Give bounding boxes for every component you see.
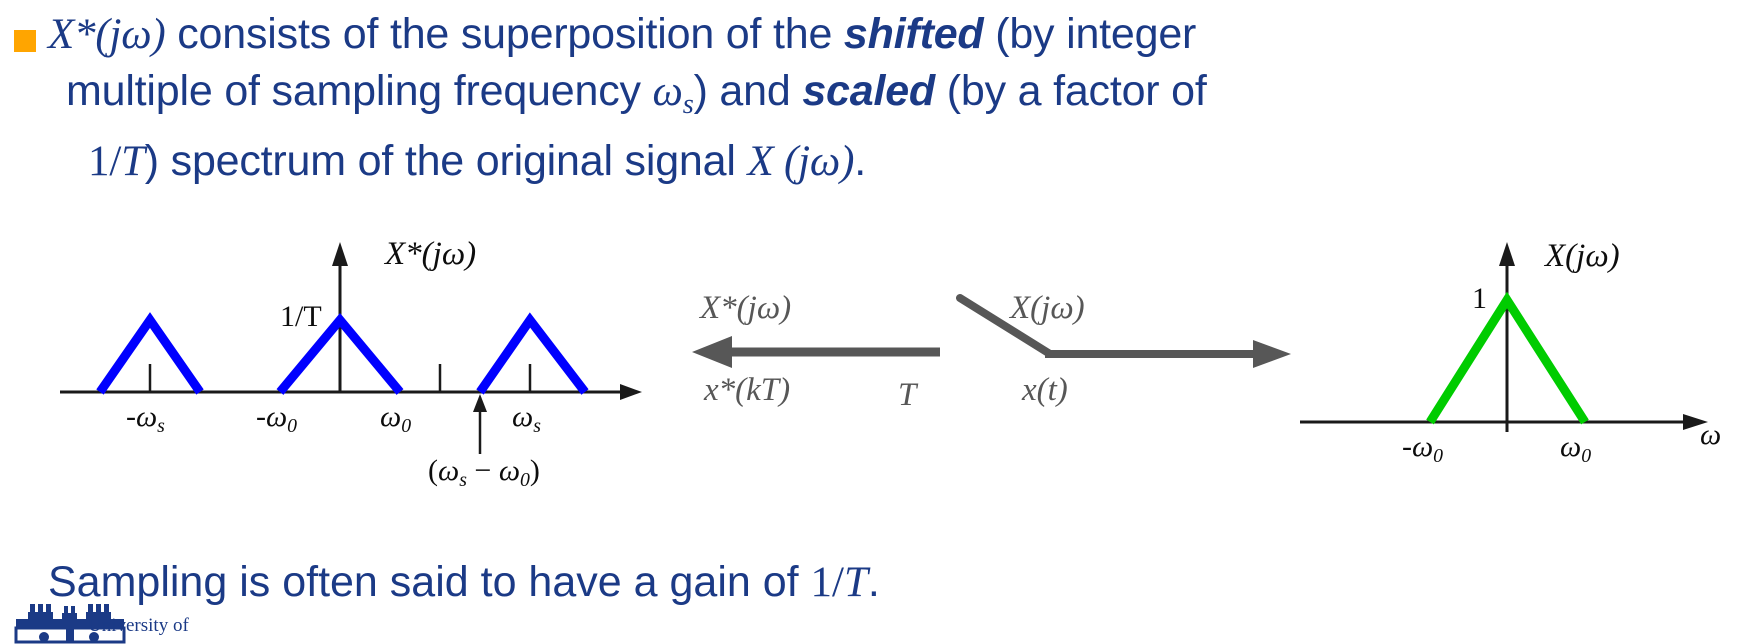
emphasis-scaled: scaled — [802, 67, 935, 115]
left-plot-y-axis-label: X*(jω) — [385, 236, 476, 273]
paragraph-line-1: X*(jω) consists of the superposition of … — [48, 6, 1748, 63]
sampler-right-arrow-head — [1253, 340, 1291, 368]
summary-math-T: T — [844, 559, 868, 606]
line1-text-1: consists of the superposition of the — [166, 10, 844, 58]
spectrum-replica-positive — [480, 320, 585, 392]
math-one: 1 — [88, 138, 109, 185]
left-plot-label-neg-omega-s: -ωs — [126, 400, 165, 438]
sampler-label-X-star-jw: X*(jω) — [700, 290, 791, 327]
sampler-label-X-jw: X(jω) — [1010, 290, 1085, 327]
right-plot-svg — [1300, 232, 1740, 532]
paragraph-text: X*(jω) consists of the superposition of … — [48, 6, 1748, 190]
left-plot-svg — [40, 232, 680, 532]
right-plot-y-axis-label: X(jω) — [1545, 238, 1620, 275]
line2-text-3: (by a factor of — [935, 67, 1207, 115]
math-x-star-jw: X*(jω) — [48, 11, 166, 58]
math-slash: / — [109, 138, 121, 185]
emphasis-shifted: shifted — [844, 10, 984, 58]
line1-text-2: (by integer — [983, 10, 1196, 58]
left-plot-label-neg-omega-0: -ω0 — [256, 400, 297, 438]
figure-sampling-spectra: X*(jω) 1/T -ωs -ω0 ω0 ωs (ωs − ω0) X*(jω… — [0, 232, 1750, 532]
slide-canvas: X*(jω) consists of the superposition of … — [0, 0, 1750, 644]
line3-text-1: ) spectrum of the original signal — [145, 137, 748, 185]
summary-line: Sampling is often said to have a gain of… — [48, 556, 1748, 609]
line3-text-2: . — [854, 137, 866, 185]
paragraph-line-3: 1/T) spectrum of the original signal X (… — [48, 133, 1748, 190]
sampler-label-x-star-kT: x*(kT) — [704, 372, 790, 409]
right-plot-y-axis-arrowhead — [1499, 242, 1515, 266]
left-plot-label-omega-0: ω0 — [380, 400, 411, 438]
left-plot-annotation-ws-minus-w0: (ωs − ω0) — [428, 454, 540, 492]
math-omega-s: ω — [653, 68, 683, 115]
annotation-arrow-head — [473, 394, 487, 412]
left-plot-y-axis-arrowhead — [332, 242, 348, 266]
summary-text-1: Sampling is often said to have a gain of — [48, 558, 811, 606]
math-omega-s-subscript: s — [683, 89, 694, 120]
math-T: T — [121, 138, 145, 185]
left-plot-label-omega-s: ωs — [512, 400, 541, 438]
line2-text-1: multiple of sampling frequency — [66, 67, 653, 115]
summary-math-slash: / — [832, 559, 844, 606]
sampler-label-period-T: T — [898, 377, 916, 414]
summary-text-2: . — [868, 558, 880, 606]
left-plot-x-axis-arrowhead — [620, 384, 642, 400]
paragraph-line-2: multiple of sampling frequency ωs) and s… — [48, 63, 1748, 133]
sampler-label-x-t: x(t) — [1022, 372, 1068, 409]
right-plot-label-neg-omega-0: -ω0 — [1402, 430, 1443, 468]
sampler-left-arrow-head — [692, 336, 732, 368]
university-name-label: University of — [88, 615, 189, 637]
right-plot-x-axis-label: ω — [1700, 418, 1721, 452]
left-plot-amplitude-label: 1/T — [280, 300, 322, 334]
right-plot-label-omega-0: ω0 — [1560, 430, 1591, 468]
math-x-jw: X (jω) — [747, 138, 854, 185]
line2-text-2: ) and — [694, 67, 803, 115]
summary-math-one: 1 — [811, 559, 833, 606]
right-plot-amplitude-label: 1 — [1472, 282, 1487, 316]
bullet-square-icon — [14, 30, 36, 52]
